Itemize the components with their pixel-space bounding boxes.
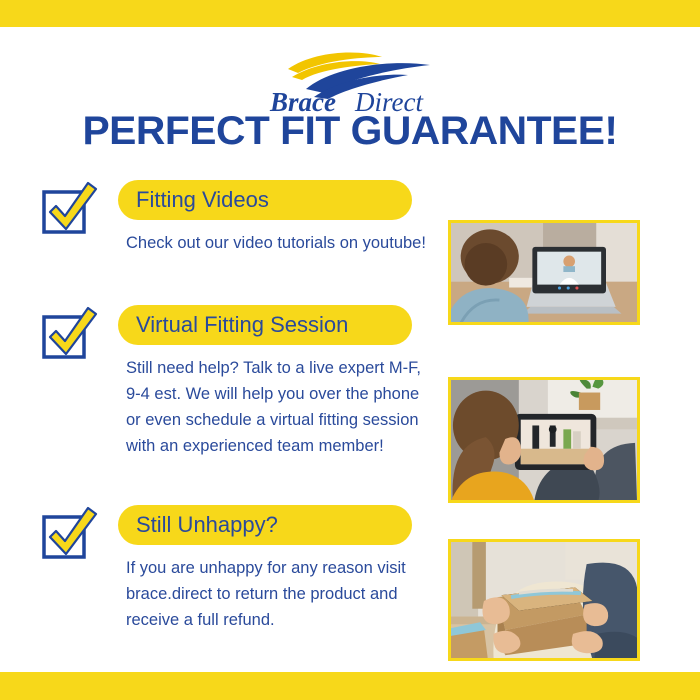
pill-label: Fitting Videos [136,188,269,212]
checkbox-check-icon [40,178,98,236]
pill-fitting-videos[interactable]: Fitting Videos [118,180,412,220]
pill-label: Virtual Fitting Session [136,313,348,337]
page-title: PERFECT FIT GUARANTEE! [0,109,700,153]
pill-virtual-fitting-session[interactable]: Virtual Fitting Session [118,305,412,345]
checkbox-check-icon [40,503,98,561]
photo-still-unhappy [448,539,640,661]
brace-direct-logo: Brace Direct [262,47,452,117]
body-text-virtual-fitting-session: Still need help? Talk to a live expert M… [126,355,426,459]
photo-fitting-videos [448,220,640,325]
pill-label: Still Unhappy? [136,513,278,537]
pill-still-unhappy[interactable]: Still Unhappy? [118,505,412,545]
body-text-still-unhappy: If you are unhappy for any reason visit … [126,555,426,633]
body-text-fitting-videos: Check out our video tutorials on youtube… [126,230,426,256]
photo-virtual-fitting-session [448,377,640,503]
top-yellow-band [0,0,700,27]
bottom-yellow-band [0,672,700,700]
content-stage: Brace Direct PERFECT FIT GUARANTEE! Fitt… [0,27,700,672]
checkbox-check-icon [40,303,98,361]
